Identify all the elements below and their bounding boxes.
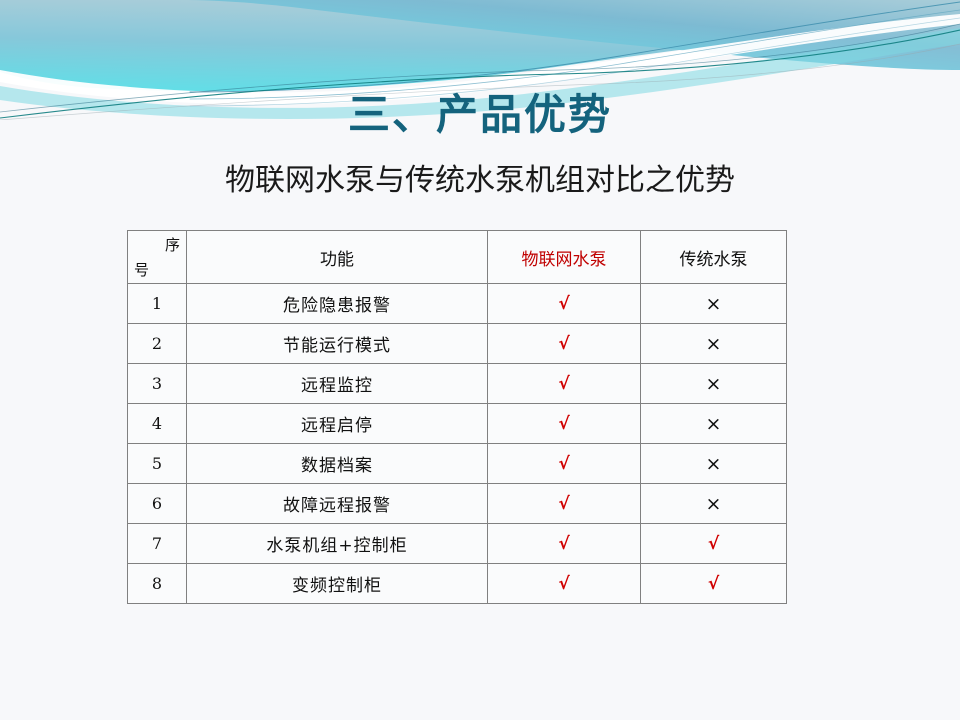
cell-iot-mark: √ (488, 524, 641, 564)
index-diagonal-header: 序 号 (128, 231, 186, 283)
traditional-mark: √ (708, 534, 719, 554)
traditional-mark: × (706, 493, 722, 515)
traditional-mark: × (706, 453, 722, 475)
row-function: 故障远程报警 (283, 496, 391, 516)
slide-canvas: 三、产品优势 物联网水泵与传统水泵机组对比之优势 序 号 (0, 0, 960, 720)
cell-function: 故障远程报警 (187, 484, 488, 524)
cell-function: 远程监控 (187, 364, 488, 404)
cell-iot-mark: √ (488, 484, 641, 524)
cell-traditional-mark: × (641, 484, 787, 524)
header-index-bottom-label: 号 (134, 259, 149, 280)
header-index-top-label: 序 (165, 234, 180, 255)
traditional-mark: × (706, 373, 722, 395)
row-function: 危险隐患报警 (283, 296, 391, 316)
table-row: 7 水泵机组+控制柜 √ √ (128, 524, 787, 564)
traditional-mark: × (706, 293, 722, 315)
iot-mark: √ (558, 294, 569, 314)
table-row: 4 远程启停 √ × (128, 404, 787, 444)
table-header-row: 序 号 功能 物联网水泵 传统水泵 (128, 231, 787, 284)
row-function: 数据档案 (301, 456, 373, 476)
header-cell-traditional-pump: 传统水泵 (641, 231, 787, 284)
cell-index: 3 (128, 364, 187, 404)
cell-iot-mark: √ (488, 444, 641, 484)
iot-mark: √ (558, 414, 569, 434)
traditional-mark: × (706, 333, 722, 355)
row-function: 节能运行模式 (283, 336, 391, 356)
cell-iot-mark: √ (488, 564, 641, 604)
cell-function: 变频控制柜 (187, 564, 488, 604)
table-row: 8 变频控制柜 √ √ (128, 564, 787, 604)
iot-mark: √ (558, 334, 569, 354)
wave-right-fill (180, 0, 960, 70)
table-row: 1 危险隐患报警 √ × (128, 284, 787, 324)
cell-iot-mark: √ (488, 324, 641, 364)
row-function: 远程监控 (301, 376, 373, 396)
cell-traditional-mark: √ (641, 524, 787, 564)
cell-index: 4 (128, 404, 187, 444)
row-index: 4 (152, 414, 162, 433)
row-index: 8 (152, 574, 162, 593)
header-iot-pump-label: 物联网水泵 (522, 250, 607, 270)
table-row: 5 数据档案 √ × (128, 444, 787, 484)
iot-mark: √ (558, 374, 569, 394)
cell-index: 5 (128, 444, 187, 484)
cell-iot-mark: √ (488, 284, 641, 324)
table-row: 3 远程监控 √ × (128, 364, 787, 404)
cell-index: 7 (128, 524, 187, 564)
iot-mark: √ (558, 454, 569, 474)
cell-traditional-mark: × (641, 404, 787, 444)
header-cell-iot-pump: 物联网水泵 (488, 231, 641, 284)
cell-traditional-mark: √ (641, 564, 787, 604)
header-cell-function: 功能 (187, 231, 488, 284)
header-traditional-pump-label: 传统水泵 (680, 250, 748, 270)
header-cell-index: 序 号 (128, 231, 187, 284)
cell-iot-mark: √ (488, 364, 641, 404)
wave-upper-fill (0, 0, 960, 91)
row-index: 1 (152, 294, 162, 313)
cell-index: 2 (128, 324, 187, 364)
cell-index: 1 (128, 284, 187, 324)
cell-traditional-mark: × (641, 324, 787, 364)
cell-function: 节能运行模式 (187, 324, 488, 364)
row-function: 水泵机组+控制柜 (266, 536, 407, 556)
cell-function: 危险隐患报警 (187, 284, 488, 324)
cell-index: 6 (128, 484, 187, 524)
row-index: 6 (152, 494, 162, 513)
cell-function: 远程启停 (187, 404, 488, 444)
row-index: 3 (152, 374, 162, 393)
comparison-table-container: 序 号 功能 物联网水泵 传统水泵 1 危 (127, 230, 786, 604)
cell-index: 8 (128, 564, 187, 604)
cell-traditional-mark: × (641, 444, 787, 484)
cell-function: 数据档案 (187, 444, 488, 484)
slide-subtitle: 物联网水泵与传统水泵机组对比之优势 (0, 163, 960, 199)
row-index: 5 (152, 454, 162, 473)
table-row: 2 节能运行模式 √ × (128, 324, 787, 364)
header-function-label: 功能 (320, 250, 354, 270)
row-function: 变频控制柜 (292, 576, 382, 596)
traditional-mark: √ (708, 574, 719, 594)
table-row: 6 故障远程报警 √ × (128, 484, 787, 524)
iot-mark: √ (558, 534, 569, 554)
slide-title: 三、产品优势 (0, 92, 960, 138)
iot-mark: √ (558, 494, 569, 514)
cell-traditional-mark: × (641, 364, 787, 404)
iot-mark: √ (558, 574, 569, 594)
row-function: 远程启停 (301, 416, 373, 436)
cell-function: 水泵机组+控制柜 (187, 524, 488, 564)
cell-traditional-mark: × (641, 284, 787, 324)
traditional-mark: × (706, 413, 722, 435)
row-index: 2 (152, 334, 162, 353)
cell-iot-mark: √ (488, 404, 641, 444)
comparison-table: 序 号 功能 物联网水泵 传统水泵 1 危 (127, 230, 787, 604)
row-index: 7 (152, 534, 162, 553)
